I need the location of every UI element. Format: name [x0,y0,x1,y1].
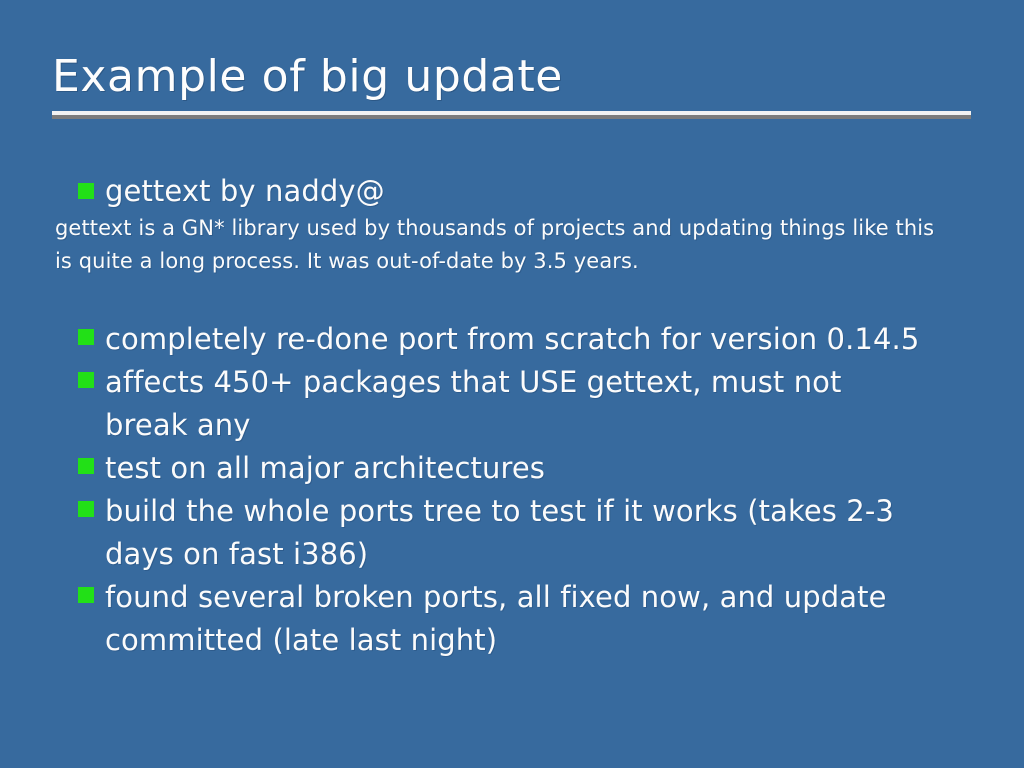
list-item: affects 450+ packages that USE gettext, … [0,361,1024,447]
list-item: test on all major architectures [0,447,1024,490]
sub-paragraph-text: gettext is a GN* library used by thousan… [55,212,950,278]
list-item: completely re-done port from scratch for… [0,318,1024,361]
green-square-bullet-icon [78,587,94,603]
page-title: Example of big update [52,50,972,104]
green-square-bullet-icon [78,372,94,388]
green-square-bullet-icon [78,183,94,199]
slide-body: gettext by naddy@ gettext is a GN* libra… [0,172,1024,662]
list-item-label: found several broken ports, all fixed no… [105,576,923,662]
bullet-list: completely re-done port from scratch for… [0,318,1024,662]
list-item-label: test on all major architectures [105,447,923,490]
green-square-bullet-icon [78,458,94,474]
presentation-slide: Example of big update gettext by naddy@ … [0,0,1024,768]
list-item-label: completely re-done port from scratch for… [105,318,923,361]
list-item: build the whole ports tree to test if it… [0,490,1024,576]
list-item: gettext by naddy@ [0,172,1024,210]
list-item: found several broken ports, all fixed no… [0,576,1024,662]
list-item-label: affects 450+ packages that USE gettext, … [105,361,923,447]
list-item-label: gettext by naddy@ [105,172,984,210]
green-square-bullet-icon [78,329,94,345]
title-underline-rule [52,111,971,115]
green-square-bullet-icon [78,501,94,517]
slide-title-block: Example of big update [52,50,972,130]
list-item-label: build the whole ports tree to test if it… [105,490,923,576]
